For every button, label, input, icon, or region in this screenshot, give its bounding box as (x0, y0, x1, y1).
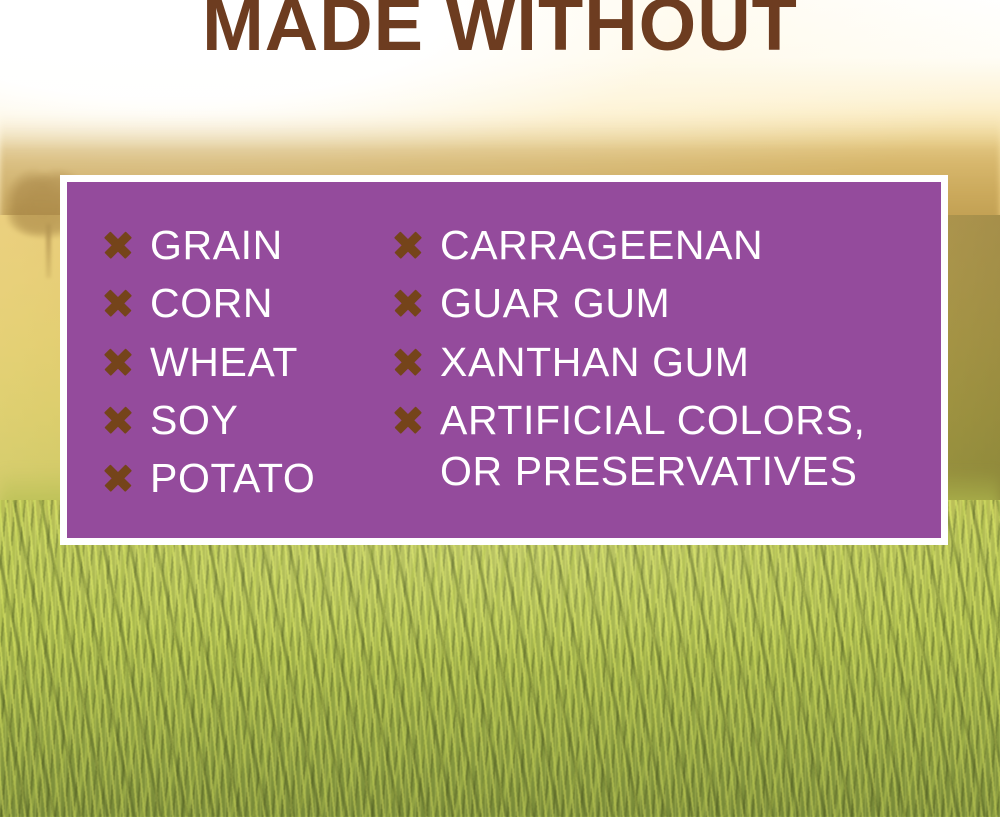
list-item: WHEAT (105, 337, 395, 388)
list-item: CORN (105, 278, 395, 329)
x-mark-icon (105, 232, 131, 258)
x-mark-icon (395, 232, 421, 258)
list-item-label: POTATO (150, 453, 315, 504)
list-item-label: CARRAGEENAN (440, 220, 763, 271)
list-item: XANTHAN GUM (395, 337, 941, 388)
x-mark-icon (105, 407, 131, 433)
x-mark-icon (105, 349, 131, 375)
list-item: GUAR GUM (395, 278, 941, 329)
x-mark-icon (105, 465, 131, 491)
exclusion-list-left: GRAIN CORN WHEAT SOY POTATO (105, 220, 395, 511)
list-item-label: ARTIFICIAL COLORS, OR PRESERVATIVES (440, 395, 865, 498)
list-item: POTATO (105, 453, 395, 504)
exclusion-list-right: CARRAGEENAN GUAR GUM XANTHAN GUM ARTIFIC… (395, 220, 941, 504)
made-without-panel-frame: GRAIN CORN WHEAT SOY POTATO (60, 175, 948, 545)
list-item-label: GRAIN (150, 220, 283, 271)
list-item-label: XANTHAN GUM (440, 337, 750, 388)
list-item: ARTIFICIAL COLORS, OR PRESERVATIVES (395, 395, 941, 498)
list-item-label: SOY (150, 395, 238, 446)
list-item-label: WHEAT (150, 337, 298, 388)
x-mark-icon (395, 349, 421, 375)
x-mark-icon (395, 290, 421, 316)
list-item-label: GUAR GUM (440, 278, 670, 329)
list-item: CARRAGEENAN (395, 220, 941, 271)
list-item-label: CORN (150, 278, 273, 329)
list-item: SOY (105, 395, 395, 446)
x-mark-icon (105, 290, 131, 316)
list-item: GRAIN (105, 220, 395, 271)
made-without-poster: MADE WITHOUT GRAIN CORN WHEAT (0, 0, 1000, 817)
tall-grass-foreground (0, 500, 1000, 817)
tree-trunk (46, 224, 51, 278)
made-without-panel: GRAIN CORN WHEAT SOY POTATO (67, 182, 941, 538)
page-title: MADE WITHOUT (0, 0, 1000, 64)
x-mark-icon (395, 407, 421, 433)
